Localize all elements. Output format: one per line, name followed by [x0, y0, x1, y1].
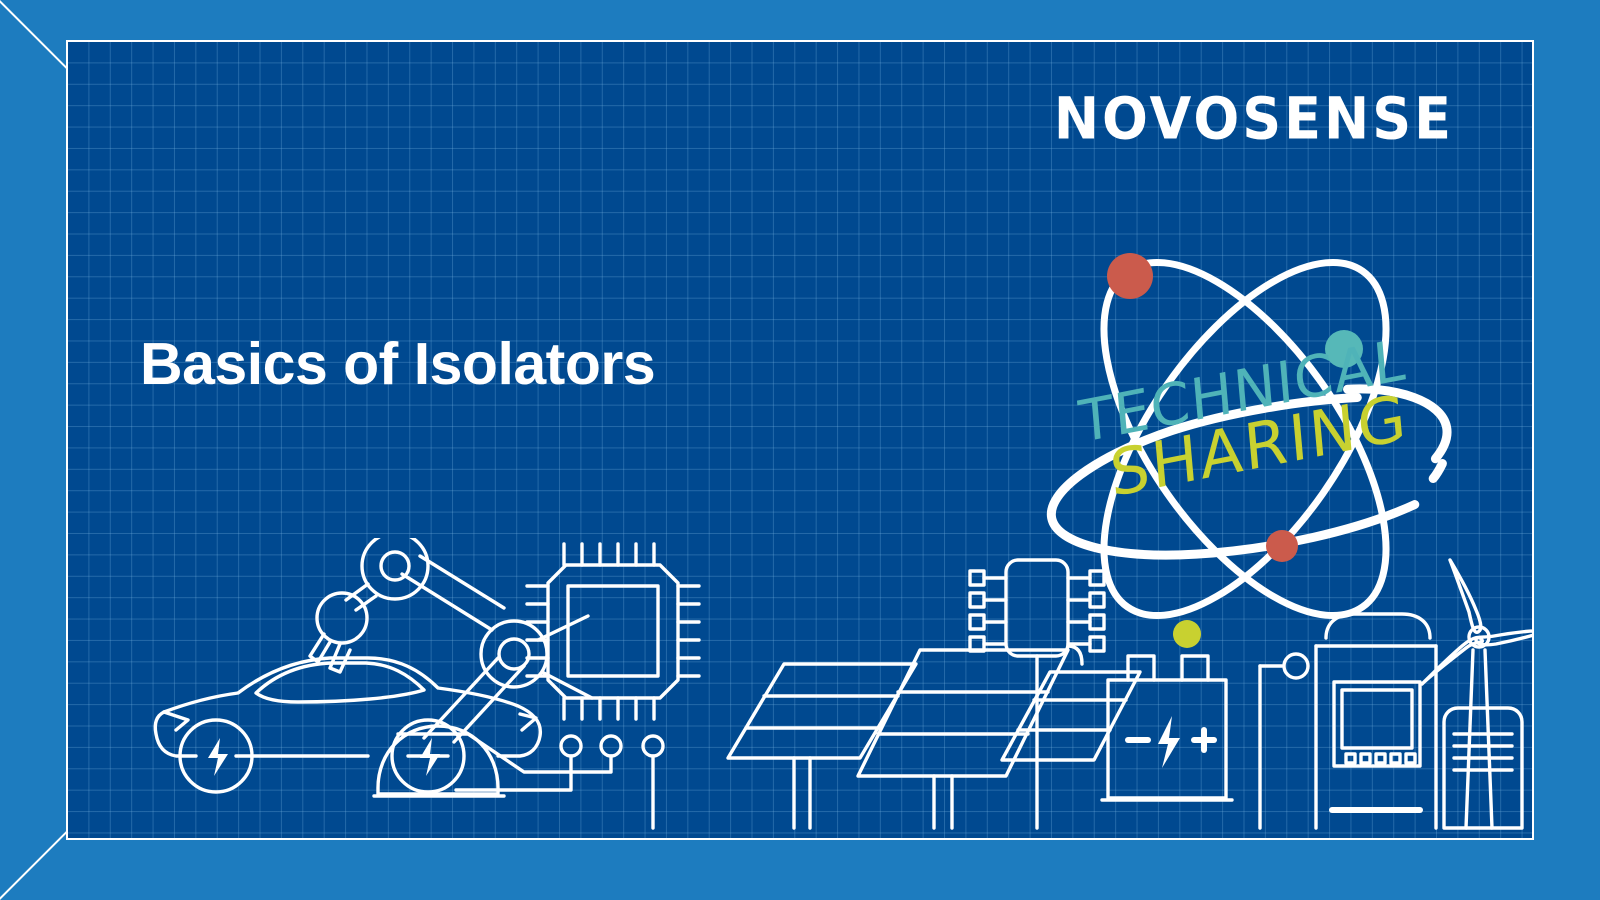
dip-ic-icon	[970, 560, 1104, 828]
battery-icon	[1068, 646, 1232, 800]
wind-turbine-icon	[1422, 560, 1534, 828]
pcb-traces-icon	[398, 734, 663, 828]
electric-car-icon	[155, 658, 540, 792]
car-wheel-bolt-left-icon	[208, 738, 228, 776]
slide-canvas: NOVOSENSE Basics of Isolators	[0, 0, 1600, 900]
industry-illustration-svg	[68, 538, 1534, 838]
novosense-logo: NOVOSENSE	[1054, 90, 1454, 148]
car-wheel-bolt-right-icon	[420, 738, 440, 776]
page-title: Basics of Isolators	[140, 330, 655, 398]
electron-right-icon	[1325, 330, 1363, 368]
blueprint-panel: NOVOSENSE Basics of Isolators	[66, 40, 1534, 840]
solar-panel-icon	[728, 650, 1140, 828]
industry-illustration	[68, 538, 1534, 838]
battery-bolt-icon	[1158, 716, 1180, 768]
electron-top-left-icon	[1107, 253, 1153, 299]
